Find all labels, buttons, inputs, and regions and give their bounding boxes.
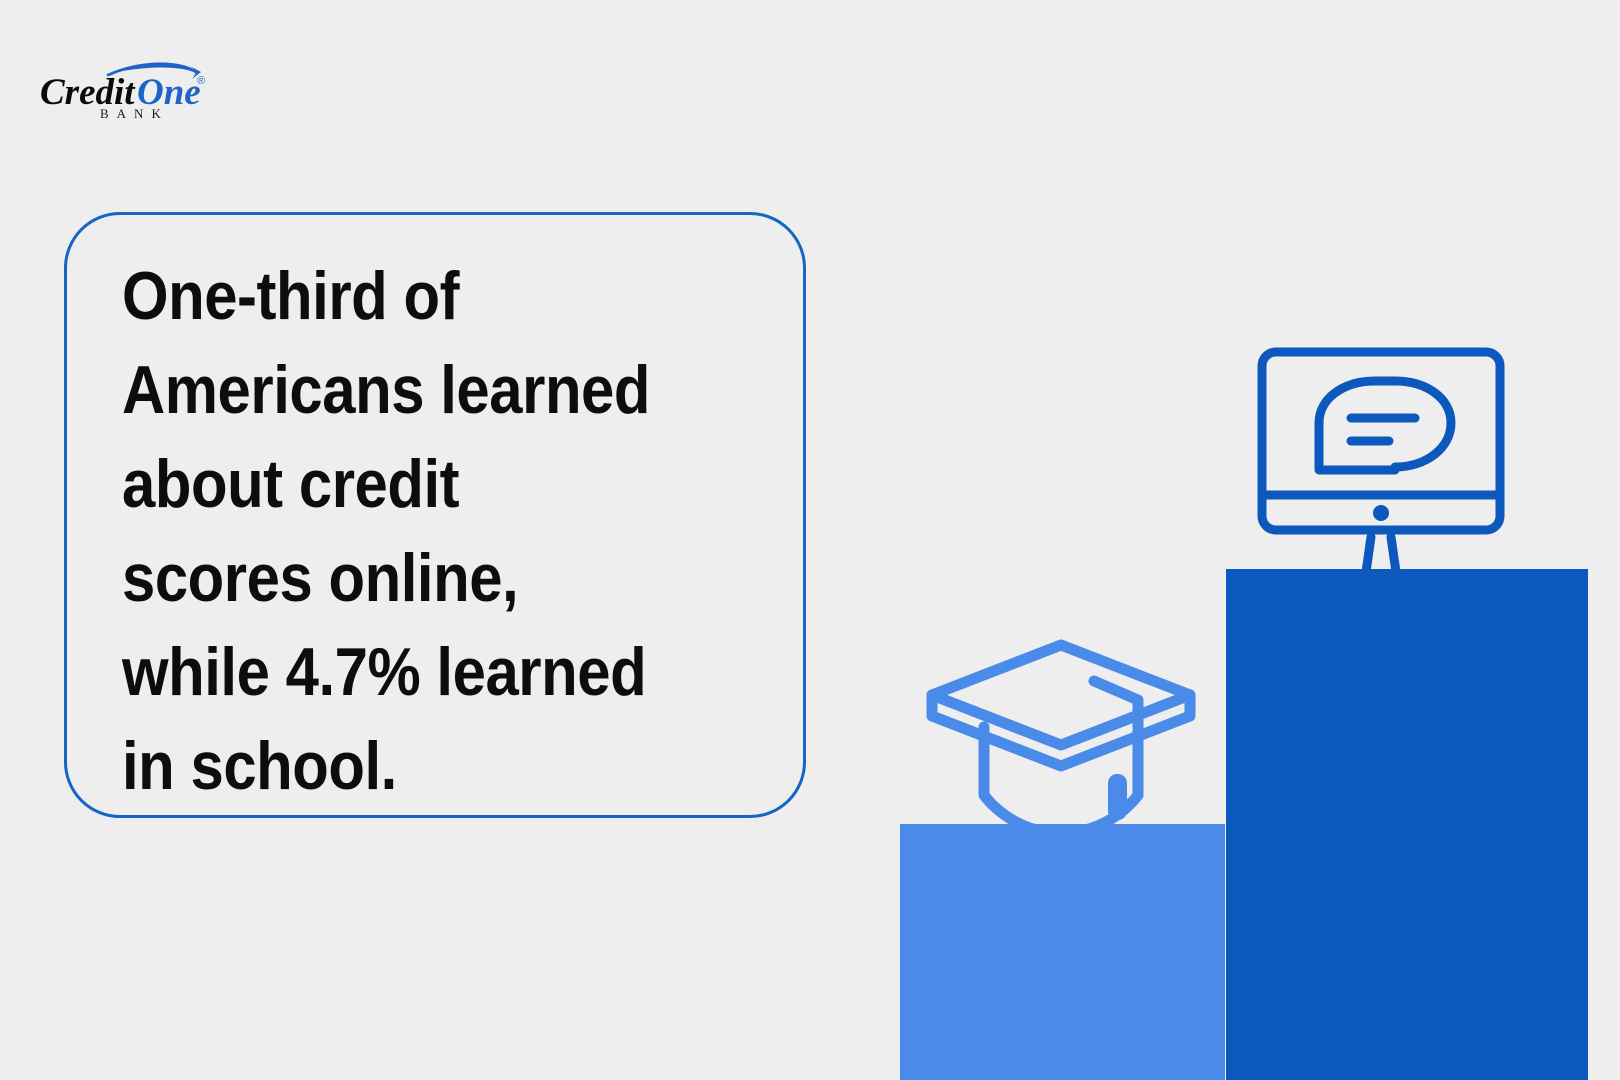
logo-registered-mark: ®: [197, 75, 205, 87]
monitor-stand-right-icon: [1391, 537, 1397, 579]
desktop-monitor-chat-icon: [1255, 345, 1507, 585]
credit-one-bank-logo-artwork: Credit One ® BANK: [38, 52, 213, 122]
statistic-callout-text: One-third of Americans learned about cre…: [122, 249, 703, 813]
logo-subtitle-bank: BANK: [100, 106, 169, 121]
cap-tassel-knob-icon: [1108, 774, 1127, 820]
infographic-canvas: Credit One ® BANK One-third of Americans…: [0, 0, 1620, 1080]
bar-learned-in-school: [900, 824, 1225, 1080]
graduation-cap-icon-artwork: [922, 632, 1200, 840]
credit-one-bank-logo[interactable]: Credit One ® BANK: [38, 52, 213, 122]
statistic-callout-card: One-third of Americans learned about cre…: [64, 212, 806, 818]
monitor-base-icon: [1337, 573, 1425, 584]
chat-bubble-icon: [1319, 381, 1451, 470]
monitor-stand-left-icon: [1365, 537, 1371, 579]
monitor-power-dot-icon: [1373, 505, 1389, 521]
desktop-monitor-chat-icon-artwork: [1255, 345, 1507, 585]
bar-learned-online: [1226, 569, 1588, 1080]
graduation-cap-icon: [922, 632, 1200, 840]
